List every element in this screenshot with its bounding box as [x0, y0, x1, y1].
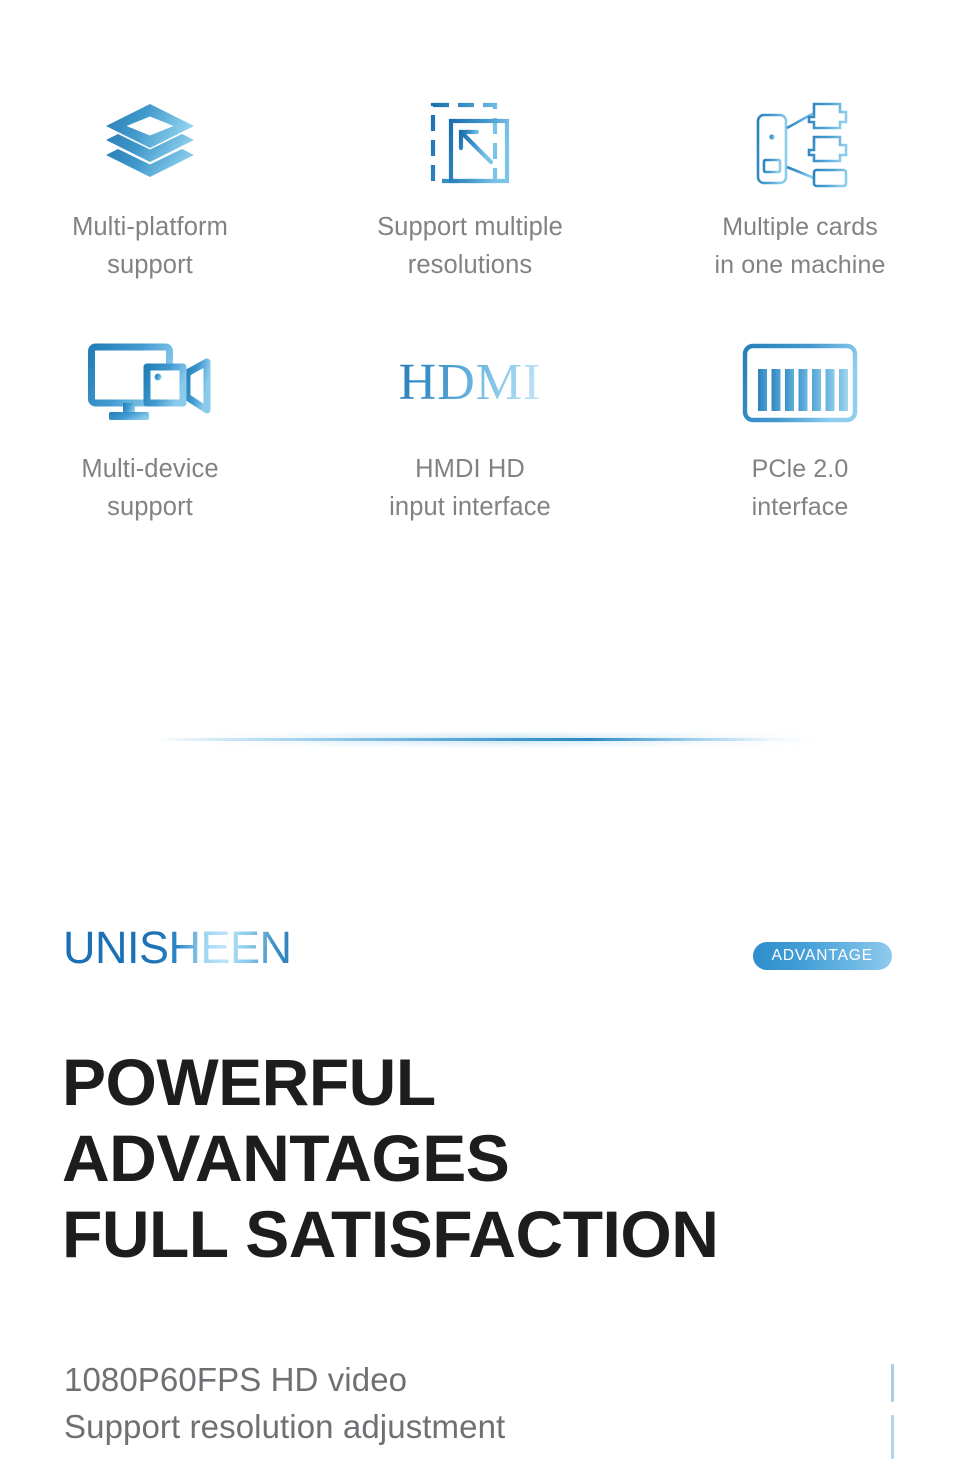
- feature-row-1: Multi-platform support: [0, 0, 960, 284]
- feature-card-hdmi-hd-input-interface[interactable]: HDMI HMDI HD input interface: [300, 338, 640, 526]
- page-title-line-3: FULL SATISFACTION: [62, 1196, 882, 1272]
- feature-label: PCle 2.0 interface: [752, 450, 849, 526]
- page-title-line-1: POWERFUL: [62, 1044, 882, 1120]
- page-title: POWERFUL ADVANTAGES FULL SATISFACTION: [62, 1044, 882, 1272]
- feature-row-2: Multi-device support HDMI HMDI HD input …: [0, 284, 960, 526]
- pcie-card-slot-icon: [742, 338, 858, 428]
- unisheen-logo[interactable]: UNISHEEN: [63, 924, 292, 972]
- feature-label: Multi-device support: [81, 450, 218, 526]
- decorative-tick-marks: [891, 1362, 897, 1459]
- page-subtitle-line-2: Support resolution adjustment: [64, 1403, 824, 1450]
- layers-stack-icon: [102, 96, 198, 192]
- feature-label: Multi-platform support: [72, 208, 228, 284]
- hdmi-wordmark-icon: HDMI: [399, 338, 542, 428]
- monitor-camera-icon: [87, 338, 213, 428]
- feature-card-multi-platform-support[interactable]: Multi-platform support: [0, 96, 300, 284]
- feature-card-pcie-interface[interactable]: PCle 2.0 interface: [640, 338, 960, 526]
- feature-grid: Multi-platform support: [0, 0, 960, 526]
- feature-label: Support multiple resolutions: [377, 208, 563, 284]
- section-divider: [0, 728, 960, 750]
- feature-label: HMDI HD input interface: [389, 450, 551, 526]
- feature-card-multiple-cards-in-one-machine[interactable]: Multiple cards in one machine: [640, 96, 960, 284]
- tick-mark-2: [891, 1415, 894, 1459]
- page-subtitle: 1080P60FPS HD video Support resolution a…: [64, 1356, 824, 1450]
- divider-line: [155, 738, 810, 741]
- feature-card-support-multiple-resolutions[interactable]: Support multiple resolutions: [300, 96, 640, 284]
- status-badge-advantage: ADVANTAGE: [753, 942, 892, 970]
- page-title-line-2: ADVANTAGES: [62, 1120, 882, 1196]
- tick-mark-1: [891, 1364, 894, 1402]
- page-subtitle-line-1: 1080P60FPS HD video: [64, 1356, 824, 1403]
- feature-card-multi-device-support[interactable]: Multi-device support: [0, 338, 300, 526]
- brand-row: UNISHEEN ADVANTAGE: [0, 924, 960, 974]
- feature-label: Multiple cards in one machine: [715, 208, 886, 284]
- multiple-cards-in-pc-icon: [748, 96, 852, 192]
- resize-resolution-icon: [427, 96, 513, 192]
- hdmi-wordmark-text: HDMI: [399, 355, 542, 411]
